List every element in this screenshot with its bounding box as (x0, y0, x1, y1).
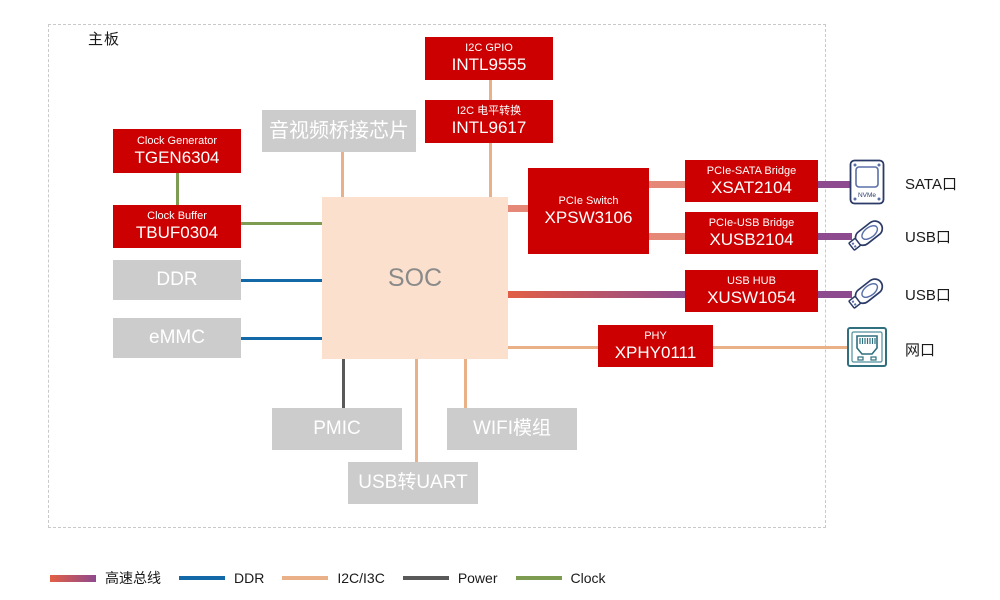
chip-label: WIFI模组 (473, 418, 551, 440)
board-title: 主板 (88, 28, 120, 49)
chip-pcie-sata-bridge[interactable]: PCIe-SATA Bridge XSAT2104 (685, 160, 818, 202)
chip-label-line2: XUSB2104 (709, 230, 793, 250)
chip-emmc[interactable]: eMMC (113, 318, 241, 358)
diagram-canvas: 主板 Clock Generator TGEN6304 Clock Buffer (0, 0, 1000, 600)
peripheral-label-usb-2: USB口 (905, 284, 951, 305)
chip-label-line1: PCIe-SATA Bridge (707, 165, 796, 178)
chip-pcie-switch[interactable]: PCIe Switch XPSW3106 (528, 168, 649, 254)
line-clock-buffer-to-soc (240, 222, 326, 225)
chip-pcie-usb-bridge[interactable]: PCIe-USB Bridge XUSB2104 (685, 212, 818, 254)
line-pcie-switch-to-sata-bridge (648, 181, 687, 188)
chip-label: USB转UART (358, 472, 467, 494)
legend-swatch-i2c-i3c (282, 576, 328, 580)
line-av-bridge-to-soc (341, 152, 344, 199)
peripheral-label-usb-1: USB口 (905, 226, 951, 247)
chip-label: eMMC (149, 327, 205, 349)
chip-usb-to-uart[interactable]: USB转UART (348, 462, 478, 504)
line-pcie-switch-to-usb-bridge (648, 233, 687, 240)
line-soc-to-usb-uart (415, 356, 418, 462)
line-soc-to-pmic (342, 356, 345, 408)
chip-label-line1: I2C 电平转换 (457, 105, 521, 118)
line-ddr-to-soc (240, 279, 326, 282)
legend-swatch-highspeed-bus (50, 575, 96, 582)
chip-label-line2: XUSW1054 (707, 288, 796, 308)
svg-text:NVMe: NVMe (858, 192, 876, 199)
usb-drive-icon (845, 270, 889, 319)
chip-label-line1: Clock Generator (137, 135, 217, 148)
legend-item-ddr: DDR (179, 570, 264, 586)
chip-clock-generator[interactable]: Clock Generator TGEN6304 (113, 129, 241, 173)
legend-label: DDR (234, 570, 264, 586)
chip-i2c-level-shifter[interactable]: I2C 电平转换 INTL9617 (425, 100, 553, 143)
peripheral-label-network: 网口 (905, 339, 935, 360)
chip-label-line2: TGEN6304 (134, 148, 219, 168)
line-soc-to-usb-hub (505, 291, 690, 298)
peripheral-label-sata: SATA口 (905, 173, 957, 194)
line-sata-bridge-to-sata-port (816, 181, 852, 188)
legend-swatch-power (403, 576, 449, 580)
chip-soc[interactable]: SOC (322, 197, 508, 359)
nvme-ssd-icon: NVMe (848, 158, 886, 211)
chip-label-line1: PCIe-USB Bridge (709, 217, 795, 230)
legend-swatch-clock (516, 576, 562, 580)
legend-item-highspeed-bus: 高速总线 (50, 568, 161, 588)
line-clock-gen-to-buffer (176, 172, 179, 206)
legend-label: Clock (571, 570, 606, 586)
chip-label: PMIC (313, 418, 361, 440)
chip-av-bridge[interactable]: 音视频桥接芯片 (262, 110, 416, 152)
chip-label-line2: INTL9617 (452, 118, 527, 138)
rj45-port-icon (846, 326, 888, 373)
chip-label: DDR (156, 269, 197, 291)
legend-label: Power (458, 570, 498, 586)
chip-phy[interactable]: PHY XPHY0111 (598, 325, 713, 367)
legend-item-i2c-i3c: I2C/I3C (282, 570, 384, 586)
legend: 高速总线 DDR I2C/I3C Power Clock (50, 568, 624, 588)
chip-label-line1: I2C GPIO (465, 42, 513, 55)
legend-label: I2C/I3C (337, 570, 384, 586)
chip-label-line1: Clock Buffer (147, 210, 207, 223)
legend-label: 高速总线 (105, 568, 161, 588)
chip-label-line2: XSAT2104 (711, 178, 792, 198)
line-i2c-level-to-soc (489, 143, 492, 199)
line-emmc-to-soc (240, 337, 326, 340)
chip-wifi-module[interactable]: WIFI模组 (447, 408, 577, 450)
chip-label-line1: PHY (644, 330, 667, 343)
chip-label: SOC (388, 264, 442, 293)
line-soc-to-phy (506, 346, 602, 349)
chip-usb-hub[interactable]: USB HUB XUSW1054 (685, 270, 818, 312)
chip-label-line2: XPSW3106 (545, 208, 633, 228)
chip-label-line2: TBUF0304 (136, 223, 218, 243)
chip-clock-buffer[interactable]: Clock Buffer TBUF0304 (113, 205, 241, 248)
line-phy-to-network-port (710, 346, 850, 349)
chip-label-line1: PCIe Switch (559, 195, 619, 208)
chip-label-line2: INTL9555 (452, 55, 527, 75)
chip-label-line2: XPHY0111 (615, 343, 697, 363)
chip-label: 音视频桥接芯片 (269, 120, 409, 143)
chip-ddr[interactable]: DDR (113, 260, 241, 300)
chip-pmic[interactable]: PMIC (272, 408, 402, 450)
chip-i2c-gpio[interactable]: I2C GPIO INTL9555 (425, 37, 553, 80)
legend-item-clock: Clock (516, 570, 606, 586)
legend-item-power: Power (403, 570, 498, 586)
usb-drive-icon (845, 212, 889, 261)
legend-swatch-ddr (179, 576, 225, 580)
line-soc-to-wifi (464, 356, 467, 408)
chip-label-line1: USB HUB (727, 275, 776, 288)
